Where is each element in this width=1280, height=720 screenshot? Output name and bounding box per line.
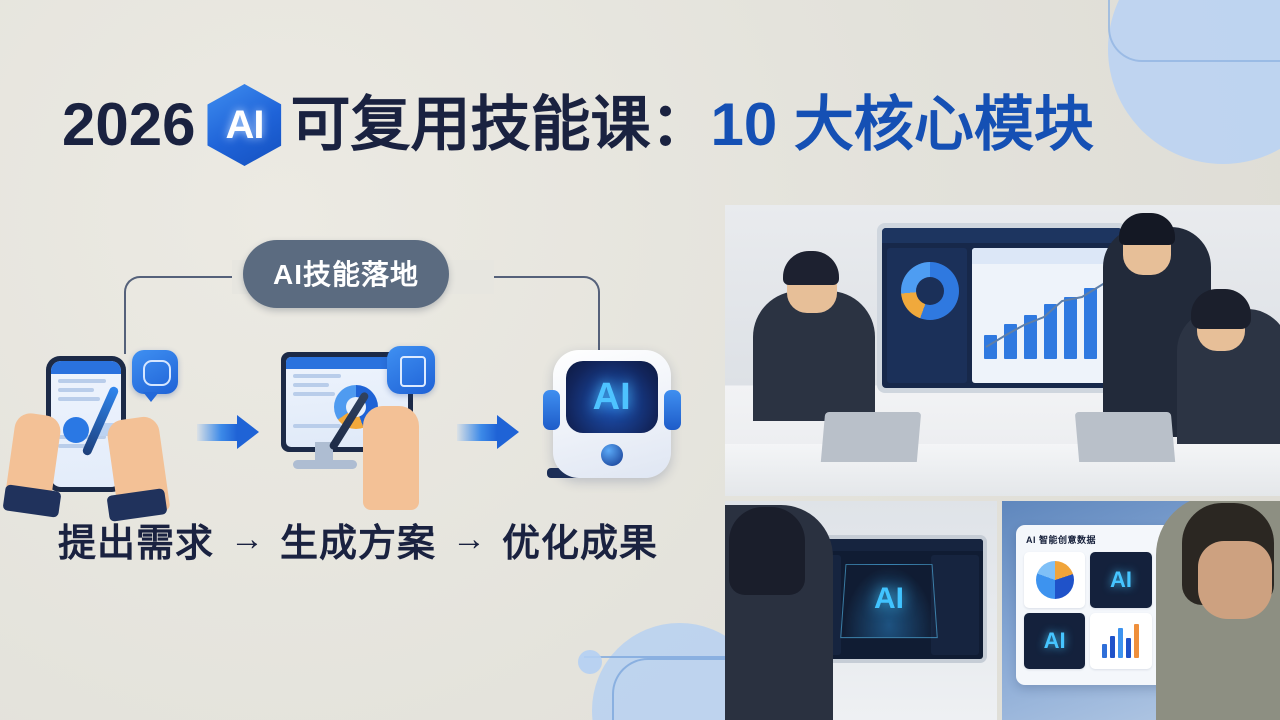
title-year: 2026 — [62, 95, 195, 155]
caption-arrow-1-icon: → — [230, 520, 264, 559]
tile-ai-1: AI — [1090, 552, 1151, 608]
chat-bubble-icon — [132, 350, 178, 394]
hologram-ai-label: AI — [874, 582, 904, 616]
ai-hologram-icon: AI — [843, 561, 935, 637]
tablet-device-icon — [387, 346, 435, 394]
ai-hexagon-badge-icon: AI — [207, 84, 281, 166]
page-title: 2026 AI 可复用技能课： 10 大核心模块 — [62, 84, 1094, 166]
flow-arrow-1-icon — [197, 415, 259, 449]
laptop-right — [1075, 412, 1175, 462]
decor-dot-bottom — [578, 650, 602, 674]
presentation-board-photo: AI 智能创意数据 AI AI — [1002, 501, 1280, 720]
step-caption-2: 生成方案 — [280, 512, 436, 567]
tile-pie-chart — [1024, 552, 1085, 608]
flow-arrow-2-icon — [457, 415, 519, 449]
tile-ai-2: AI — [1024, 613, 1085, 669]
title-dark-text: 可复用技能课： — [290, 95, 710, 155]
analyst-ai-hologram-photo: AI — [725, 501, 997, 720]
ai-robot-icon: AI — [519, 342, 716, 522]
phone-stylus-icon — [0, 342, 197, 522]
robot-lens-icon — [601, 444, 623, 466]
line-chart — [982, 273, 1112, 359]
flow-captions: 提出需求 → 生成方案 → 优化成果 — [0, 512, 716, 567]
tile-bar-chart — [1090, 613, 1151, 669]
flow-step-icons: AI — [0, 332, 716, 532]
photo-collage: AI AI 智能创意数据 AI AI — [725, 205, 1280, 720]
monitor-chart-icon — [259, 342, 456, 522]
hand-pointing — [363, 406, 419, 510]
title-blue-text: 10 大核心模块 — [710, 95, 1093, 155]
robot-ai-label: AI — [593, 376, 631, 419]
business-meeting-dashboard-photo — [725, 205, 1280, 496]
caption-arrow-2-icon: → — [452, 520, 486, 559]
flow-pill-badge: AI技能落地 — [243, 240, 449, 308]
desktop-monitor — [877, 223, 1127, 393]
laptop-left — [821, 412, 921, 462]
step-caption-3: 优化成果 — [502, 512, 658, 567]
step-caption-1: 提出需求 — [58, 512, 214, 567]
decor-frame-top-right — [1108, 0, 1280, 62]
ai-badge-label: AI — [225, 103, 263, 148]
poster-canvas: 2026 AI 可复用技能课： 10 大核心模块 AI技能落地 — [0, 0, 1280, 720]
